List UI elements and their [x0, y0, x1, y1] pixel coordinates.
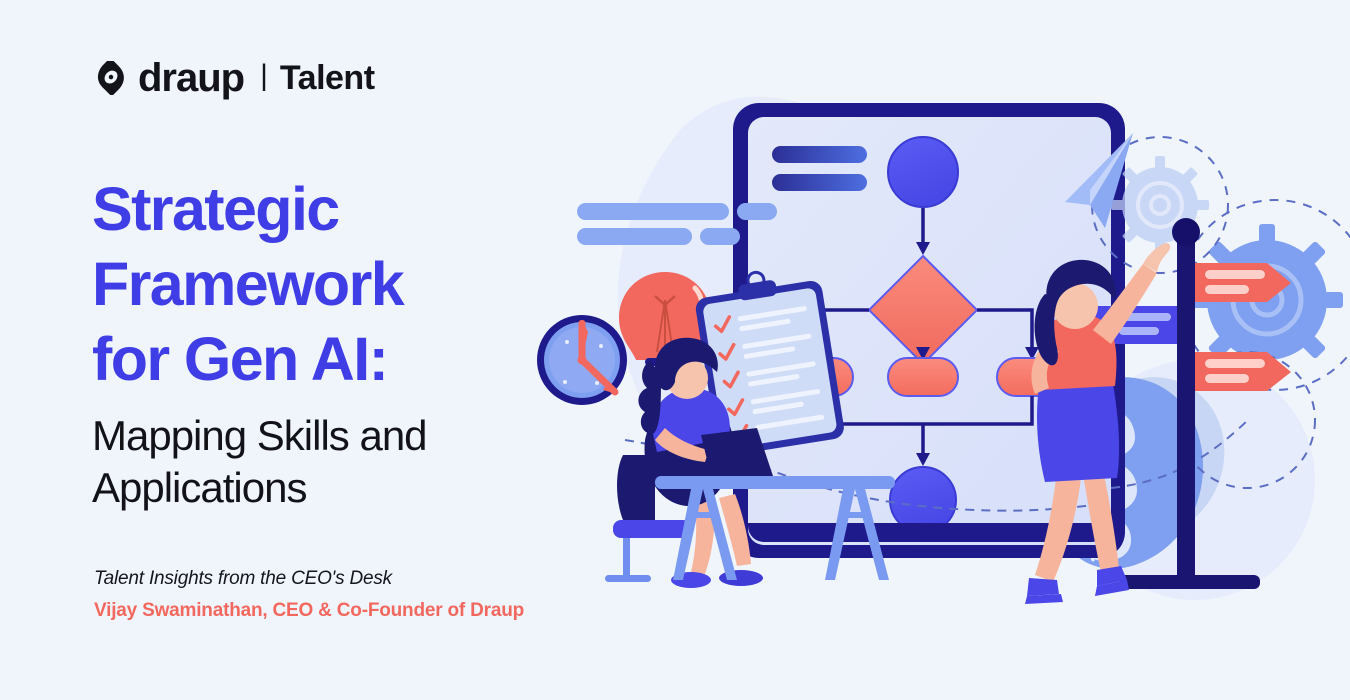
- flowchart-start-circle: [888, 137, 958, 207]
- draup-leaf-logo-icon: [94, 61, 128, 95]
- brand-product-name: Talent: [280, 61, 375, 95]
- brand-separator: |: [260, 61, 268, 91]
- hero-banner: draup | Talent Strategic Framework for G…: [0, 0, 1350, 700]
- brand-logo[interactable]: draup | Talent: [94, 58, 375, 98]
- brand-wordmark: draup: [138, 58, 244, 98]
- analog-clock: [537, 315, 627, 405]
- gen-ai-strategy-flowchart-illustration: [505, 0, 1350, 700]
- flowchart-process-pill-center: [888, 358, 958, 396]
